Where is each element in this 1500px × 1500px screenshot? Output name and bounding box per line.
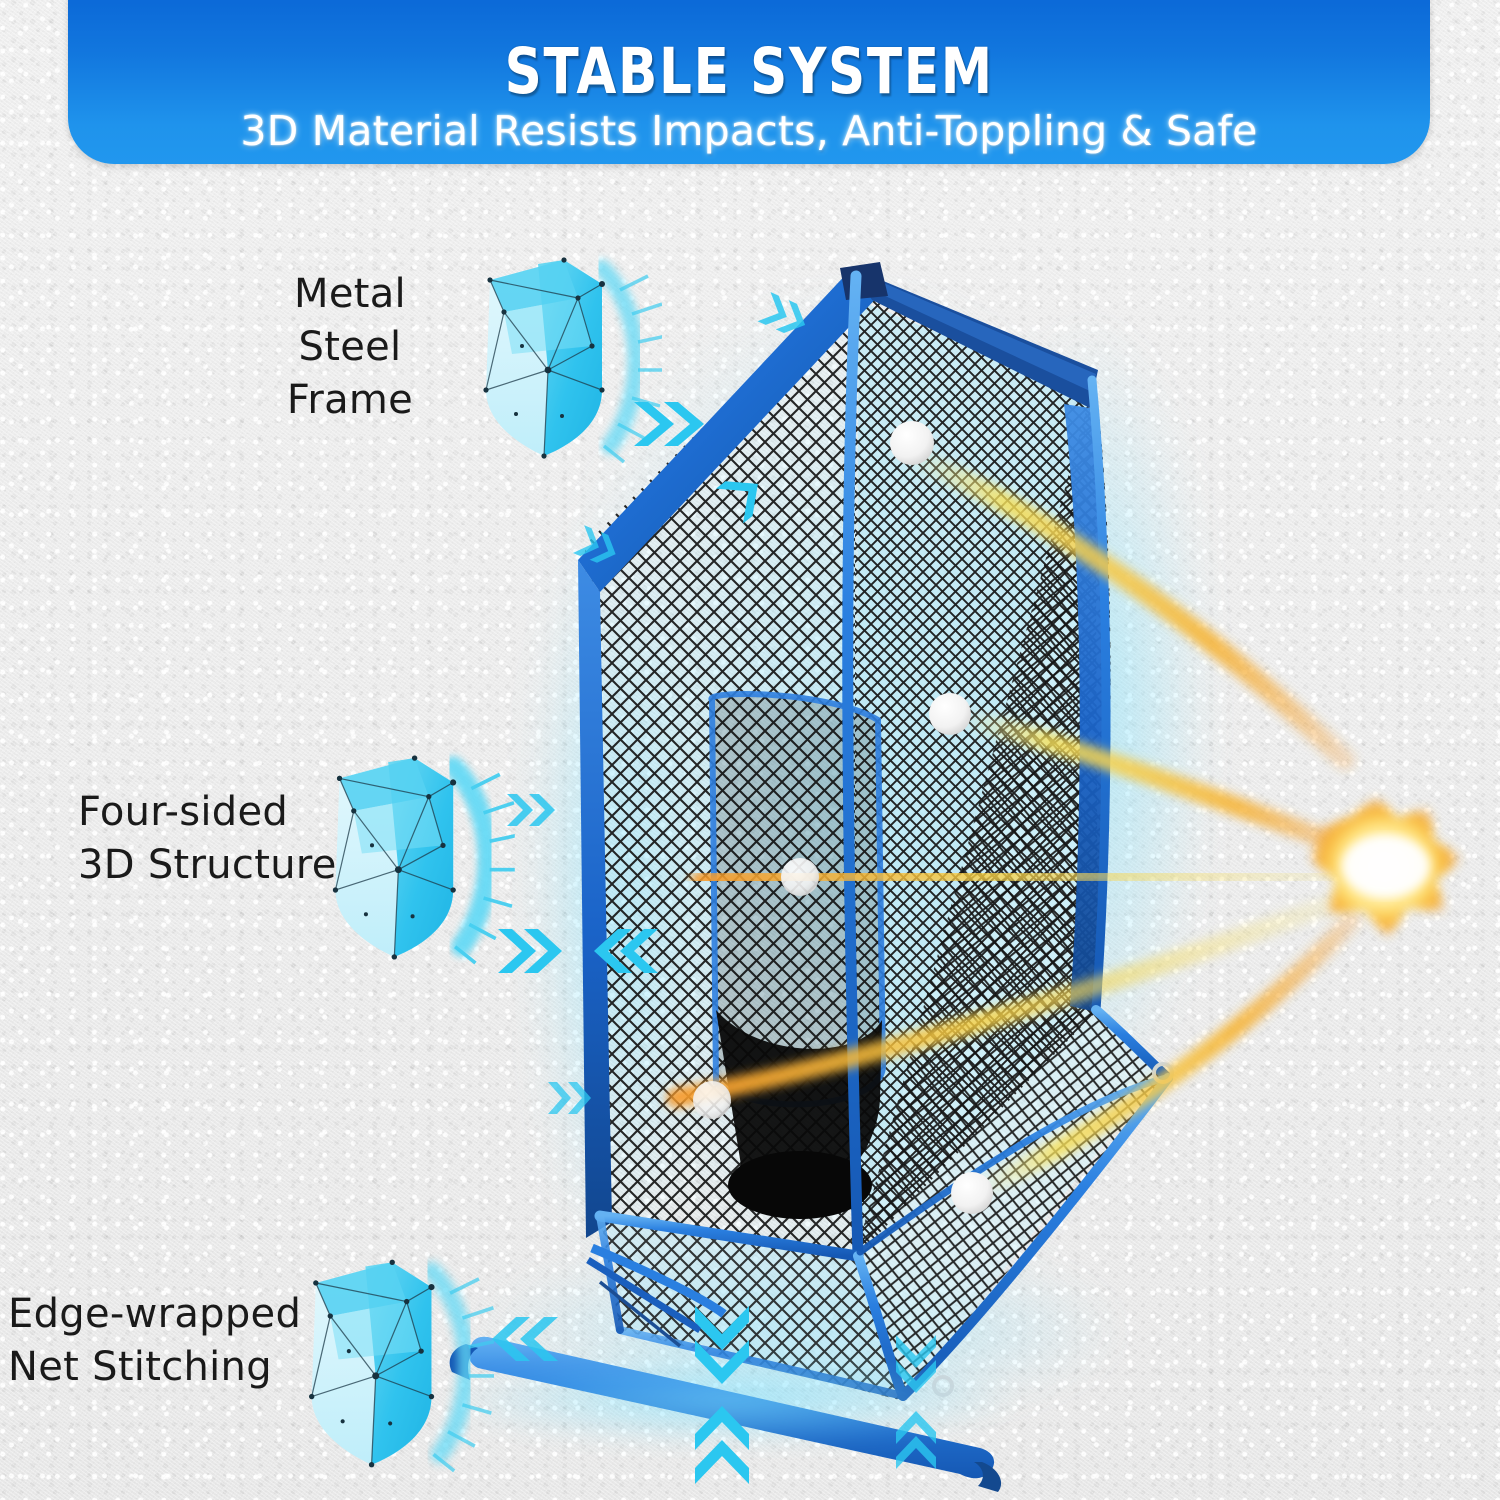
chevron-arrow-icon bbox=[494, 924, 568, 978]
header-banner: STABLE SYSTEM 3D Material Resists Impact… bbox=[68, 0, 1430, 164]
impact-burst-icon bbox=[1310, 796, 1464, 938]
chevron-arrow-icon bbox=[690, 1402, 754, 1488]
page-subtitle: 3D Material Resists Impacts, Anti-Toppli… bbox=[240, 111, 1257, 152]
polygonal-shield-icon bbox=[276, 1252, 494, 1474]
chevron-arrow-icon bbox=[588, 924, 662, 978]
chevron-arrow-icon bbox=[892, 1408, 940, 1472]
feature-label-metal-steel-frame: Metal Steel Frame bbox=[240, 268, 460, 426]
page-title: STABLE SYSTEM bbox=[504, 40, 993, 103]
chevron-arrow-icon bbox=[505, 790, 563, 830]
product-illustration bbox=[0, 0, 1500, 1500]
chevron-arrow-icon bbox=[690, 1302, 754, 1388]
chevron-arrow-icon bbox=[892, 1332, 940, 1396]
chevron-arrow-icon bbox=[488, 1312, 562, 1366]
chevron-arrow-icon bbox=[546, 1078, 598, 1118]
chevron-arrow-icon bbox=[630, 396, 710, 452]
polygonal-shield-icon bbox=[300, 748, 515, 966]
